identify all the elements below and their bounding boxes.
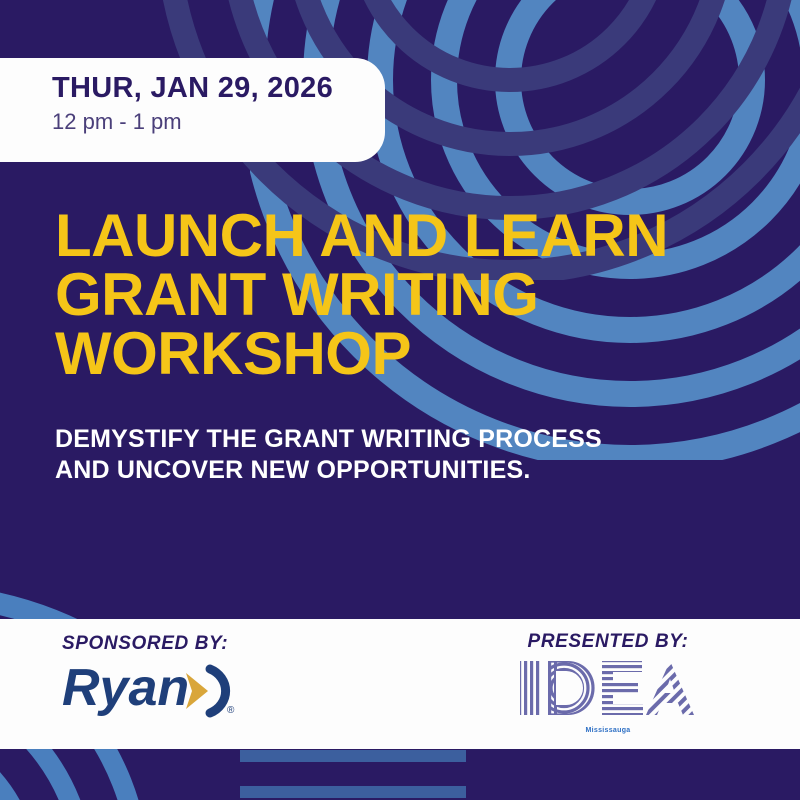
idea-letter-I (520, 661, 540, 715)
subtitle-line-2: AND UNCOVER NEW OPPORTUNITIES. (55, 455, 675, 486)
idea-sub-label: Mississauga (458, 727, 758, 734)
idea-letter-A (644, 661, 698, 715)
bottom-decorative-band (0, 748, 800, 800)
date-banner: THUR, JAN 29, 2026 12 pm - 1 pm (0, 58, 385, 162)
event-date: THUR, JAN 29, 2026 (52, 72, 385, 105)
idea-letter-D (540, 661, 593, 715)
ryan-leaf-icon (186, 673, 208, 709)
footer-band: SPONSORED BY: Ryan ® PRESENTED BY: (0, 619, 800, 749)
headline-line-2: GRANT WRITING (55, 266, 665, 325)
band-stripe-2 (240, 786, 466, 798)
ryan-logo: Ryan ® (62, 659, 262, 721)
page-title: LAUNCH AND LEARN GRANT WRITING WORKSHOP (55, 207, 665, 383)
decorative-arcs-bottom-band (0, 748, 240, 800)
sponsored-by-label: SPONSORED BY: (62, 633, 392, 655)
event-poster: THUR, JAN 29, 2026 12 pm - 1 pm LAUNCH A… (0, 0, 800, 800)
band-stripe-1 (240, 750, 466, 762)
headline-line-3: WORKSHOP (55, 325, 665, 384)
idea-letter-E (602, 661, 646, 715)
ryan-trademark-symbol: ® (227, 705, 235, 716)
presented-by-label: PRESENTED BY: (458, 631, 758, 653)
ryan-wordmark: Ryan (62, 659, 189, 717)
subtitle: DEMYSTIFY THE GRANT WRITING PROCESS AND … (55, 424, 675, 485)
presenter-block: PRESENTED BY: (458, 631, 758, 734)
idea-logo (518, 659, 698, 721)
subtitle-line-1: DEMYSTIFY THE GRANT WRITING PROCESS (55, 424, 675, 455)
ryan-arc-icon (210, 669, 226, 713)
headline-line-1: LAUNCH AND LEARN (55, 207, 665, 266)
sponsor-block: SPONSORED BY: Ryan ® (62, 633, 392, 726)
event-time: 12 pm - 1 pm (52, 108, 385, 137)
